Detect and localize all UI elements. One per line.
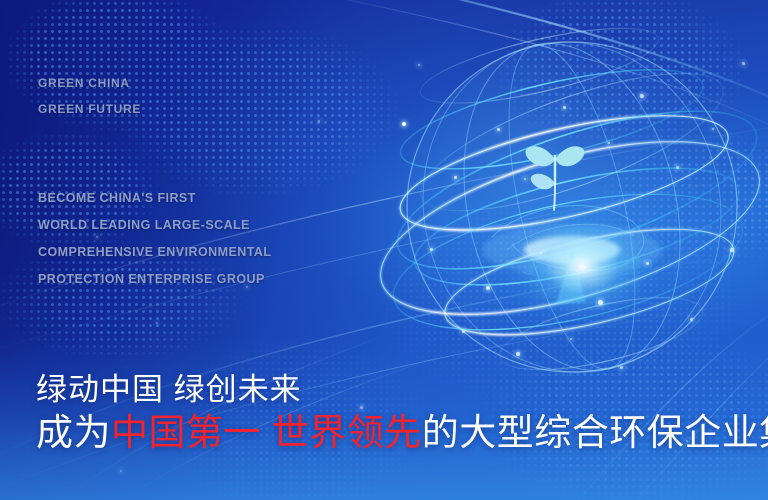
- english-statement: BECOME CHINA'S FIRST WORLD LEADING LARGE…: [38, 185, 271, 293]
- english-statement-line-3: COMPREHENSIVE ENVIRONMENTAL: [38, 239, 271, 266]
- chinese-headline-line-1: 绿动中国 绿创未来: [36, 370, 768, 410]
- hero-banner: GREEN CHINA GREEN FUTURE BECOME CHINA'S …: [0, 0, 768, 500]
- english-tagline-line-1: GREEN CHINA: [38, 70, 141, 96]
- english-statement-line-4: PROTECTION ENTERPRISE GROUP: [38, 266, 271, 293]
- chinese-headline-highlight: 中国第一 世界领先: [111, 412, 422, 453]
- english-tagline-line-2: GREEN FUTURE: [38, 96, 141, 122]
- chinese-headline-line-2: 成为中国第一 世界领先的大型综合环保企业集团: [36, 410, 768, 456]
- chinese-headline: 绿动中国 绿创未来 成为中国第一 世界领先的大型综合环保企业集团: [36, 370, 768, 456]
- english-tagline: GREEN CHINA GREEN FUTURE: [38, 70, 141, 122]
- chinese-headline-prefix: 成为: [36, 412, 111, 453]
- chinese-headline-suffix: 的大型综合环保企业集团: [422, 412, 768, 453]
- english-statement-line-1: BECOME CHINA'S FIRST: [38, 185, 271, 212]
- english-statement-line-2: WORLD LEADING LARGE-SCALE: [38, 212, 271, 239]
